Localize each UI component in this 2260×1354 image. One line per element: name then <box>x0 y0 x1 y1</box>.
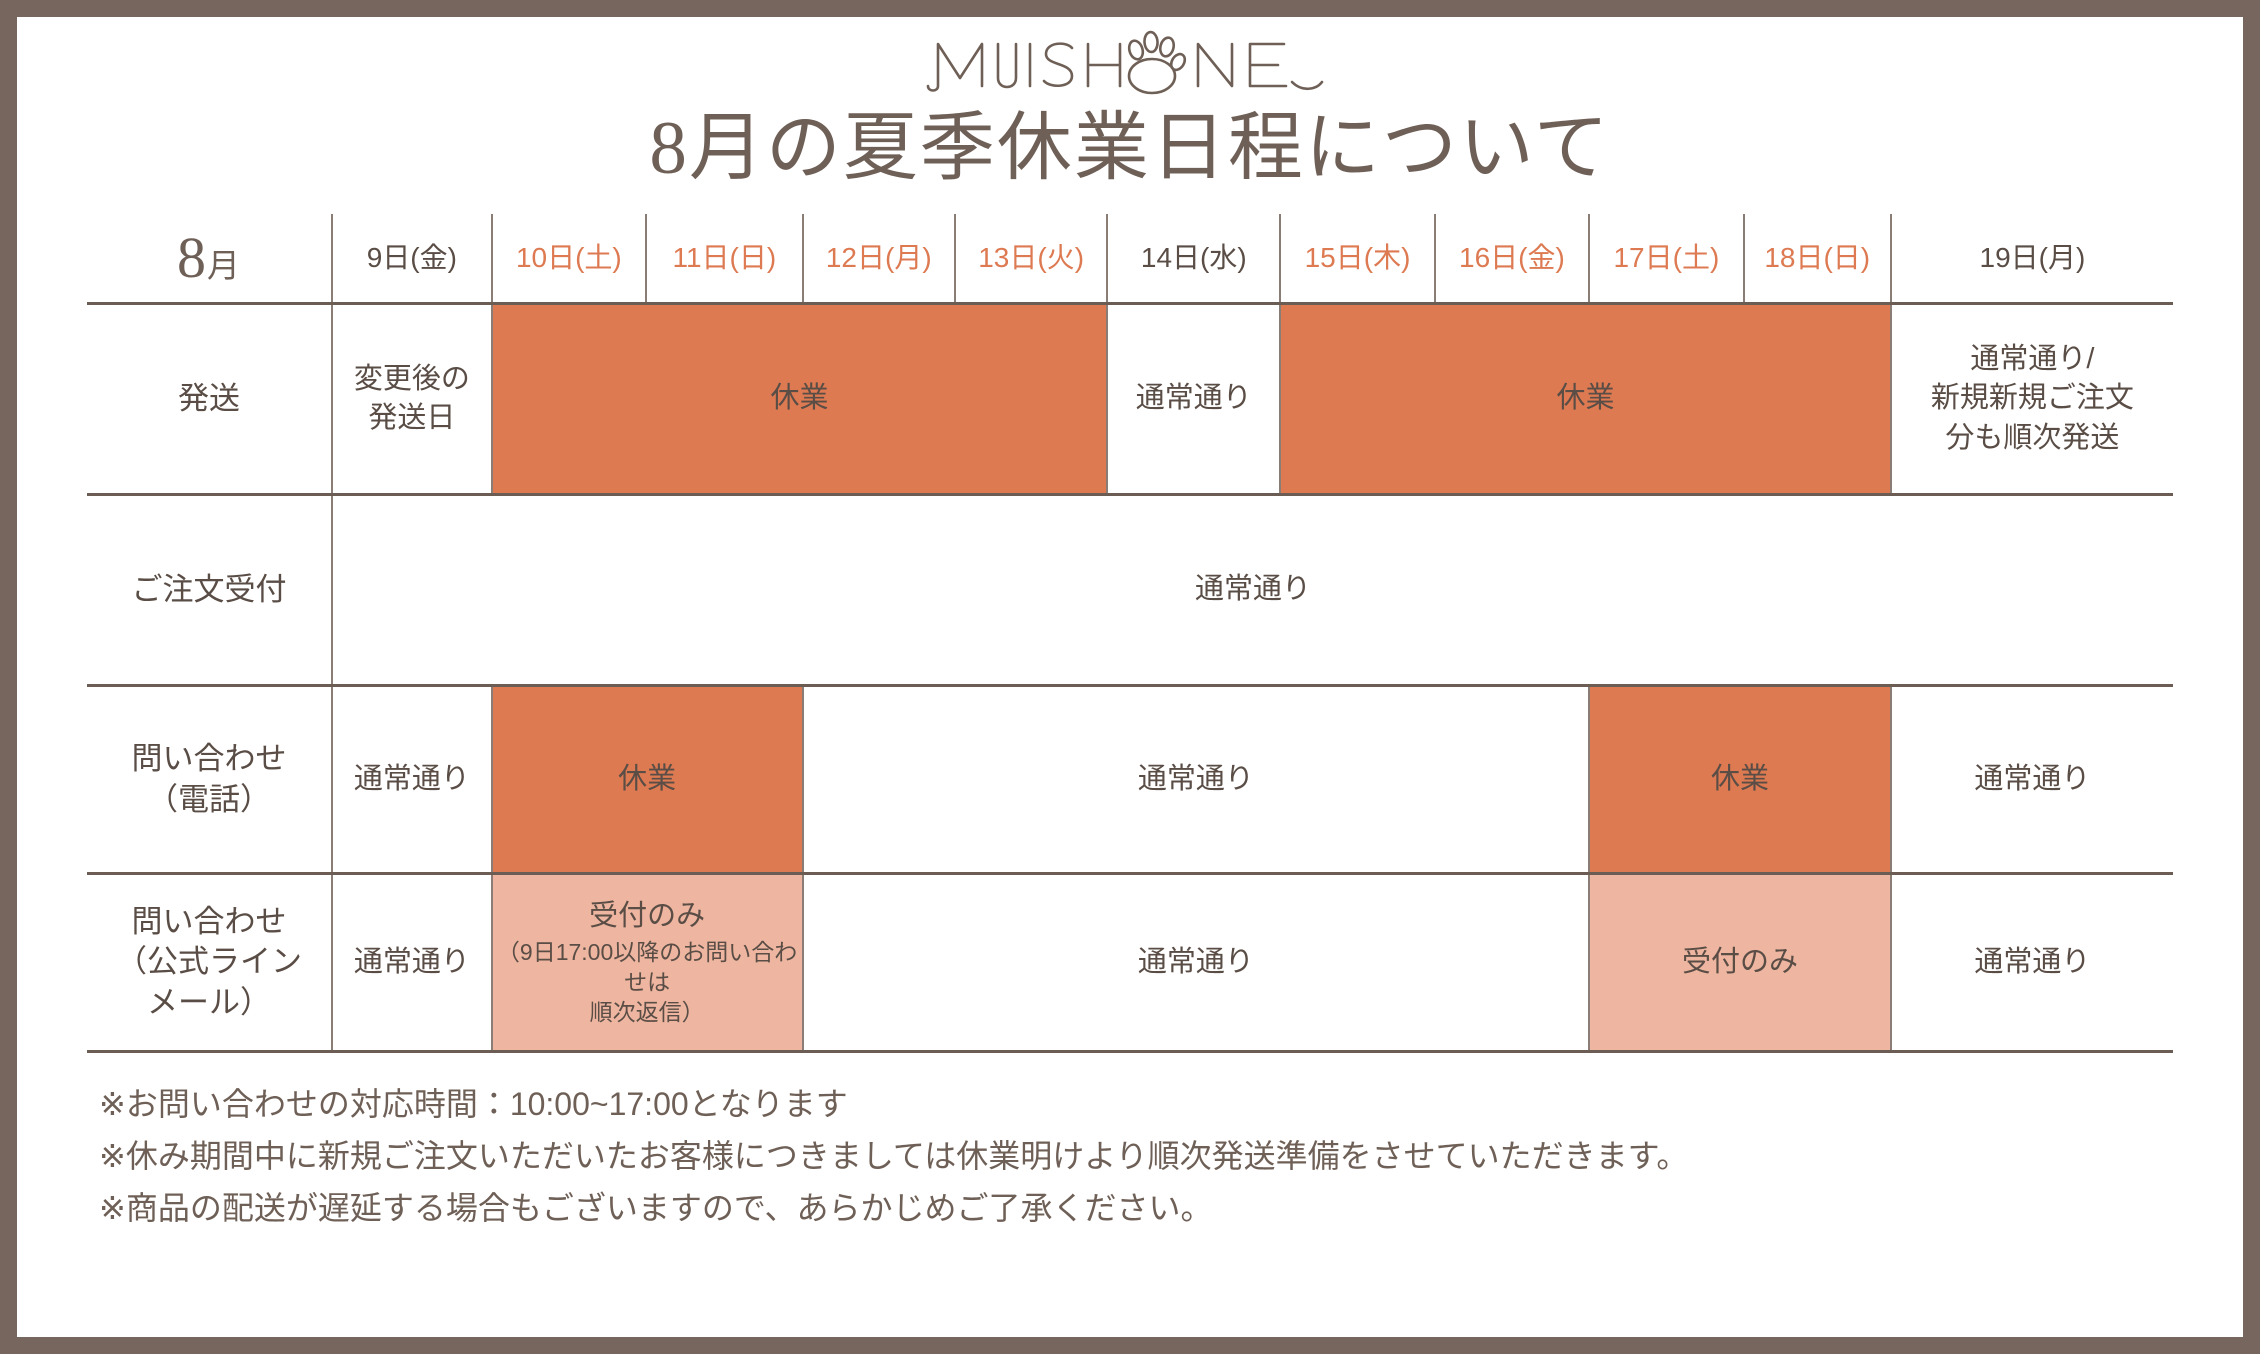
row-label-inquiry-phone: 問い合わせ（電話） <box>87 686 332 874</box>
cell-line-4: 通常通り <box>1891 874 2173 1052</box>
day-header-9: 18日(日) <box>1744 214 1891 304</box>
cell-line-1: 受付のみ （9日17:00以降のお問い合わせは順次返信） <box>492 874 803 1052</box>
day-header-5: 14日(水) <box>1107 214 1280 304</box>
cell-phone-4: 通常通り <box>1891 686 2173 874</box>
month-number: 8 <box>177 225 207 290</box>
row-label-shipping: 発送 <box>87 304 332 495</box>
cell-shipping-1: 休業 <box>492 304 1108 495</box>
table-row-inquiry-phone: 問い合わせ（電話） 通常通り 休業 通常通り 休業 通常通り <box>87 686 2173 874</box>
day-header-1: 10日(土) <box>492 214 646 304</box>
page-title: 8月の夏季休業日程について <box>77 111 2183 186</box>
note-line-2: ※商品の配送が遅延する場合もございますので、あらかじめご了承ください。 <box>99 1183 2183 1235</box>
cell-line-0: 通常通り <box>332 874 492 1052</box>
cell-line-1-main: 受付のみ <box>493 897 802 936</box>
cell-phone-0: 通常通り <box>332 686 492 874</box>
day-header-6: 15日(木) <box>1280 214 1434 304</box>
table-header-row: 8月 9日(金) 10日(土) 11日(日) 12日(月) 13日(火) 14日… <box>87 214 2173 304</box>
day-header-8: 17日(土) <box>1589 214 1743 304</box>
cell-line-3: 受付のみ <box>1589 874 1891 1052</box>
notice-page: 8月の夏季休業日程について 8月 <box>0 0 2260 1354</box>
mishone-logo <box>920 30 1340 96</box>
table-row-order-reception: ご注文受付 通常通り <box>87 495 2173 686</box>
day-header-10: 19日(月) <box>1891 214 2173 304</box>
day-header-3: 12日(月) <box>803 214 955 304</box>
cell-shipping-2: 通常通り <box>1107 304 1280 495</box>
row-label-order-reception: ご注文受付 <box>87 495 332 686</box>
notice-inner: 8月の夏季休業日程について 8月 <box>17 17 2243 1337</box>
cell-shipping-3: 休業 <box>1280 304 1891 495</box>
note-line-1: ※休み期間中に新規ご注文いただいたお客様につきましては休業明けより順次発送準備を… <box>99 1131 2183 1183</box>
row-label-inquiry-line-mail: 問い合わせ（公式ラインメール） <box>87 874 332 1052</box>
notes-list: ※お問い合わせの対応時間：10:00~17:00となります ※休み期間中に新規ご… <box>99 1079 2183 1234</box>
cell-line-1-sub: （9日17:00以降のお問い合わせは順次返信） <box>493 938 802 1028</box>
day-header-0: 9日(金) <box>332 214 492 304</box>
day-header-7: 16日(金) <box>1435 214 1589 304</box>
day-header-2: 11日(日) <box>646 214 803 304</box>
cell-phone-3: 休業 <box>1589 686 1891 874</box>
month-unit: 月 <box>207 249 241 285</box>
table-row-shipping: 発送 変更後の発送日 休業 通常通り 休業 通常通り/新規新規ご注文分も順次発送 <box>87 304 2173 495</box>
table-row-inquiry-line-mail: 問い合わせ（公式ラインメール） 通常通り 受付のみ （9日17:00以降のお問い… <box>87 874 2173 1052</box>
cell-phone-1: 休業 <box>492 686 803 874</box>
cell-shipping-4: 通常通り/新規新規ご注文分も順次発送 <box>1891 304 2173 495</box>
month-label-cell: 8月 <box>87 214 332 304</box>
cell-order-0: 通常通り <box>332 495 2173 686</box>
cell-phone-2: 通常通り <box>803 686 1590 874</box>
holiday-schedule-table: 8月 9日(金) 10日(土) 11日(日) 12日(月) 13日(火) 14日… <box>87 214 2173 1053</box>
cell-shipping-0: 変更後の発送日 <box>332 304 492 495</box>
cell-line-2: 通常通り <box>803 874 1590 1052</box>
brand-logo <box>77 17 2183 109</box>
note-line-0: ※お問い合わせの対応時間：10:00~17:00となります <box>99 1079 2183 1131</box>
day-header-4: 13日(火) <box>955 214 1107 304</box>
mishone-wordmark-icon <box>920 30 1340 96</box>
